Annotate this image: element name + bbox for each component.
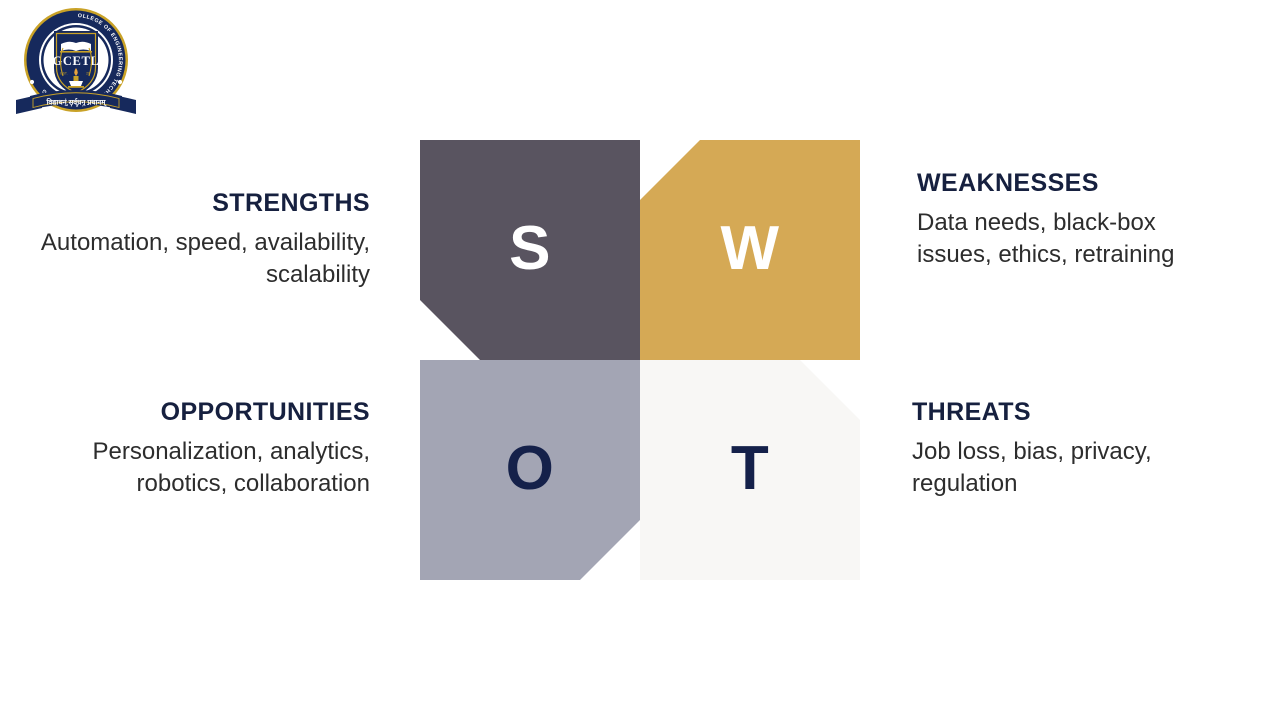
threats-body: Job loss, bias, privacy, regulation: [912, 436, 1232, 500]
weaknesses-body: Data needs, black-box issues, ethics, re…: [917, 207, 1237, 271]
gcetl-seal-icon: GLOBAL COLLEGE OF ENGINEERING TECHNOLOGY…: [6, 4, 146, 130]
opportunities-body: Personalization, analytics, robotics, co…: [30, 436, 370, 500]
swot-quadrant-threats[interactable]: T: [640, 360, 860, 580]
strengths-body: Automation, speed, availability, scalabi…: [30, 227, 370, 291]
strengths-title: STRENGTHS: [30, 188, 370, 218]
strengths-text-block: STRENGTHS Automation, speed, availabilit…: [30, 188, 370, 291]
quadrant-letter-o: O: [420, 438, 640, 500]
swot-quadrant-strengths[interactable]: S: [420, 140, 640, 360]
quadrant-letter-t: T: [640, 438, 860, 500]
threats-title: THREATS: [912, 397, 1232, 427]
quadrant-letter-w: W: [640, 218, 860, 280]
swot-quadrant-opportunities[interactable]: O: [420, 360, 640, 580]
opportunities-text-block: OPPORTUNITIES Personalization, analytics…: [30, 397, 370, 500]
svg-text:विद्याधनं सर्वधन प्रधानम्: विद्याधनं सर्वधन प्रधानम्: [46, 98, 108, 107]
svg-text:GCETL: GCETL: [53, 54, 100, 68]
weaknesses-text-block: WEAKNESSES Data needs, black-box issues,…: [917, 168, 1237, 271]
quadrant-letter-s: S: [420, 218, 640, 280]
weaknesses-title: WEAKNESSES: [917, 168, 1237, 198]
college-logo: GLOBAL COLLEGE OF ENGINEERING TECHNOLOGY…: [6, 4, 146, 130]
swot-matrix: S W O T: [420, 140, 860, 580]
swot-quadrant-weaknesses[interactable]: W: [640, 140, 860, 360]
threats-text-block: THREATS Job loss, bias, privacy, regulat…: [912, 397, 1232, 500]
opportunities-title: OPPORTUNITIES: [30, 397, 370, 427]
